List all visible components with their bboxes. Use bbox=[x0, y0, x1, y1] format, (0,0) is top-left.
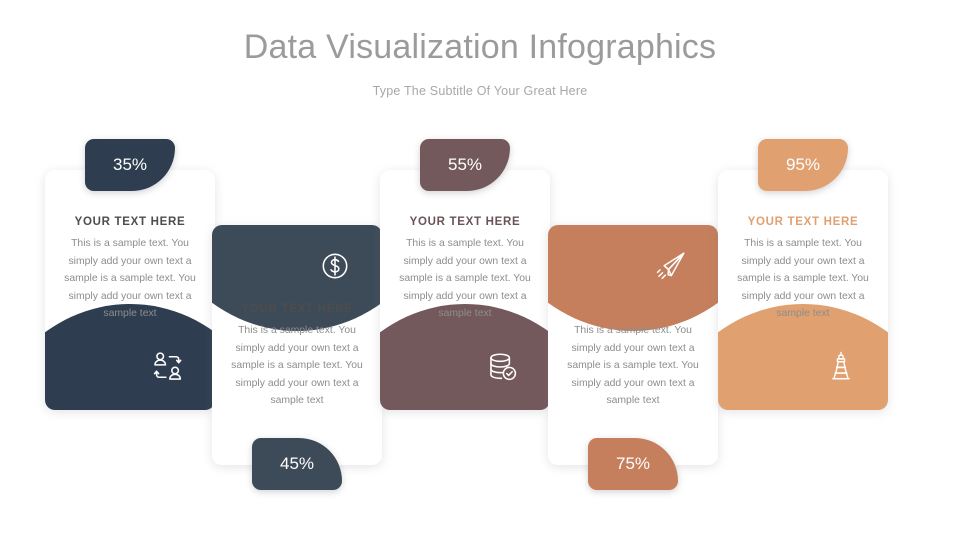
card-heading: YOUR TEXT HERE bbox=[222, 303, 372, 315]
card-body: YOUR TEXT HERE This is a sample text. Yo… bbox=[45, 216, 215, 323]
lighthouse-icon bbox=[824, 350, 858, 384]
percent-badge-label: 55% bbox=[448, 155, 482, 175]
card-heading: YOUR TEXT HERE bbox=[728, 216, 878, 228]
card-body: YOUR TEXT HERE This is a sample text. Yo… bbox=[380, 216, 550, 323]
page-subtitle: Type The Subtitle Of Your Great Here bbox=[0, 84, 960, 98]
info-card[interactable]: YOUR TEXT HERE This is a sample text. Yo… bbox=[212, 225, 382, 465]
database-check-icon bbox=[486, 350, 520, 384]
info-card[interactable]: YOUR TEXT HERE This is a sample text. Yo… bbox=[45, 170, 215, 410]
users-exchange-icon bbox=[151, 350, 185, 384]
paper-plane-icon bbox=[654, 249, 688, 283]
percent-badge-label: 95% bbox=[786, 155, 820, 175]
percent-badge-label: 45% bbox=[280, 454, 314, 474]
info-card[interactable]: YOUR TEXT HERE This is a sample text. Yo… bbox=[718, 170, 888, 410]
card-body: YOUR TEXT HERE This is a sample text. Yo… bbox=[548, 303, 718, 410]
page-title: Data Visualization Infographics bbox=[0, 28, 960, 67]
percent-badge-label: 75% bbox=[616, 454, 650, 474]
card-heading: YOUR TEXT HERE bbox=[390, 216, 540, 228]
card-heading: YOUR TEXT HERE bbox=[558, 303, 708, 315]
card-body: YOUR TEXT HERE This is a sample text. Yo… bbox=[212, 303, 382, 410]
card-text: This is a sample text. You simply add yo… bbox=[728, 235, 878, 323]
dollar-circle-icon bbox=[318, 249, 352, 283]
card-heading: YOUR TEXT HERE bbox=[55, 216, 205, 228]
card-text: This is a sample text. You simply add yo… bbox=[558, 322, 708, 410]
percent-badge-label: 35% bbox=[113, 155, 147, 175]
card-text: This is a sample text. You simply add yo… bbox=[222, 322, 372, 410]
infographic-slide: Data Visualization Infographics Type The… bbox=[0, 0, 960, 540]
card-text: This is a sample text. You simply add yo… bbox=[55, 235, 205, 323]
card-body: YOUR TEXT HERE This is a sample text. Yo… bbox=[718, 216, 888, 323]
info-card[interactable]: YOUR TEXT HERE This is a sample text. Yo… bbox=[548, 225, 718, 465]
card-text: This is a sample text. You simply add yo… bbox=[390, 235, 540, 323]
info-card[interactable]: YOUR TEXT HERE This is a sample text. Yo… bbox=[380, 170, 550, 410]
